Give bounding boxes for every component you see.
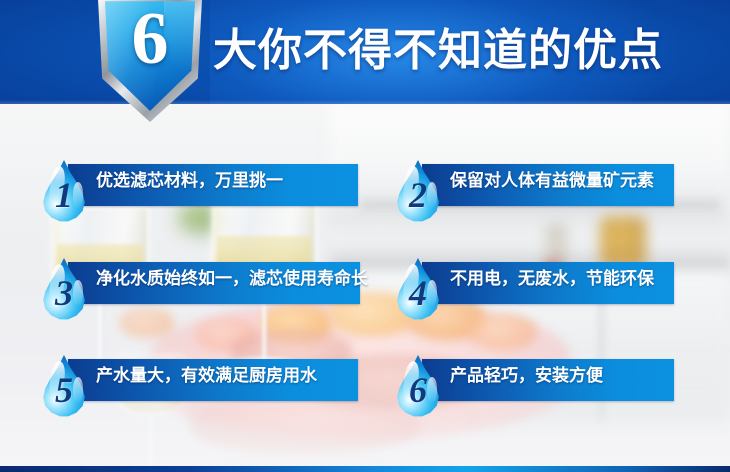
feature-list: 优选滤芯材料，万里挑一 1 保留对人体有益微量矿元素 2 净化水质始终如一，滤芯…: [0, 0, 730, 472]
feature-number: 5: [38, 369, 90, 411]
feature-number: 1: [38, 174, 90, 216]
feature-label: 产品轻巧，安装方便: [450, 355, 603, 397]
feature-label: 产水量大，有效满足厨房用水: [96, 355, 317, 397]
feature-label: 保留对人体有益微量矿元素: [450, 160, 654, 202]
water-drop-icon: 1: [38, 160, 90, 222]
feature-number: 6: [392, 369, 444, 411]
water-drop-icon: 2: [392, 160, 444, 222]
feature-label: 优选滤芯材料，万里挑一: [96, 160, 283, 202]
feature-label: 净化水质始终如一，滤芯使用寿命长: [96, 258, 368, 300]
water-drop-icon: 3: [38, 258, 90, 320]
bottom-accent-strip: [0, 466, 730, 472]
promo-banner: 大你不得不知道的优点 6 优选滤芯材料，万里挑一 1 保留对人体有益微量矿元素 …: [0, 0, 730, 472]
water-drop-icon: 5: [38, 355, 90, 417]
water-drop-icon: 4: [392, 258, 444, 320]
feature-label: 不用电，无废水，节能环保: [450, 258, 654, 300]
feature-number: 2: [392, 174, 444, 216]
water-drop-icon: 6: [392, 355, 444, 417]
feature-number: 3: [38, 272, 90, 314]
feature-number: 4: [392, 272, 444, 314]
